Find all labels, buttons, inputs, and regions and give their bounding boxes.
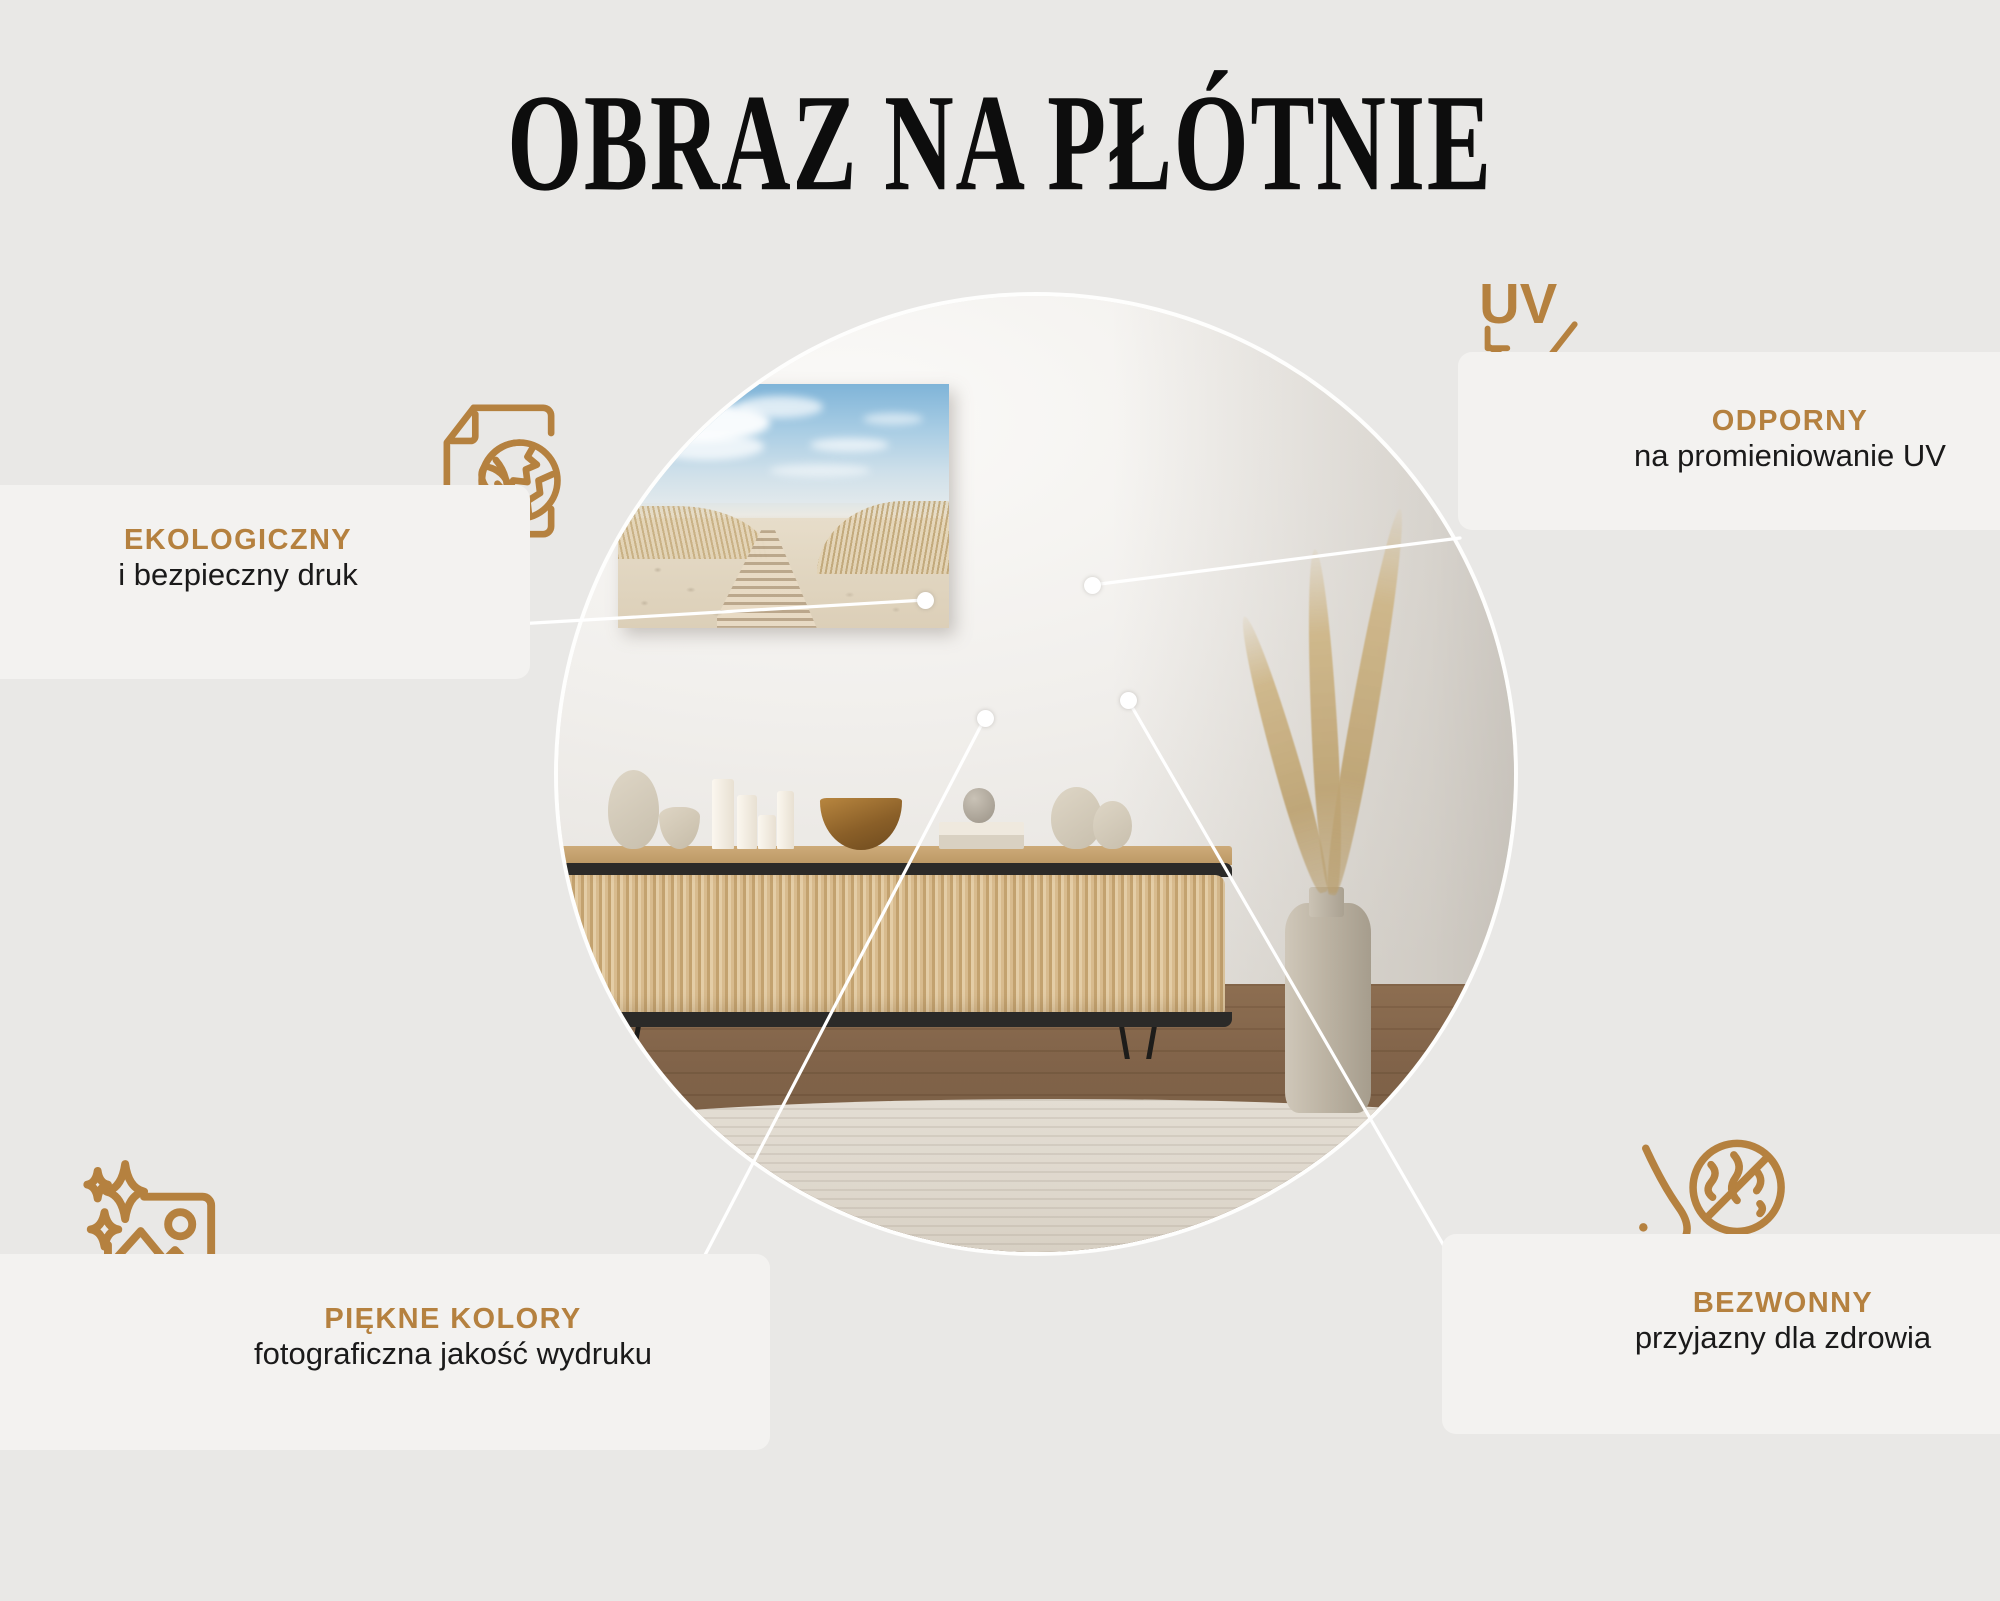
feature-subtitle: przyjazny dla zdrowia [1635,1320,1931,1357]
connector-dot [1084,577,1101,594]
sideboard-fluted-front [558,875,1225,1014]
pillar-candle [777,791,794,848]
feature-card-eco-text: EKOLOGICZNY i bezpieczny druk [58,523,418,594]
feature-subtitle: na promieniowanie UV [1634,438,1946,475]
decorative-stone [963,788,995,822]
uv-icon-label: UV [1479,278,1558,335]
feature-card-colors[interactable]: PIĘKNE KOLORY fotograficzna jakość wydru… [0,1254,770,1450]
feature-title: PIĘKNE KOLORY [324,1302,581,1336]
living-room-scene [558,296,1514,1252]
feature-card-eco[interactable]: EKOLOGICZNY i bezpieczny druk [0,485,530,679]
feature-card-uv-text: ODPORNY na promieniowanie UV [1580,404,2000,475]
connector-dot [917,592,934,609]
feature-subtitle: i bezpieczny druk [118,557,358,594]
sideboard-leg [630,1027,641,1059]
pillar-candle [737,795,757,849]
feature-card-odorless[interactable]: BEZWONNY przyjazny dla zdrowia [1442,1234,2000,1434]
stacked-books [939,822,1023,849]
pillar-candle [758,815,776,848]
feature-title: ODPORNY [1712,404,1868,438]
sideboard-top [558,846,1232,865]
sideboard [558,846,1232,1056]
canvas-artwork [618,384,949,628]
feature-title: EKOLOGICZNY [124,523,352,557]
ceramic-vase-pair [1093,801,1131,849]
feature-card-uv[interactable]: ODPORNY na promieniowanie UV [1458,352,2000,530]
artwork-sand-footprints [618,545,949,628]
sideboard-base [558,1012,1232,1027]
sideboard-leg [603,1027,614,1059]
ceramic-vase-large [608,770,660,848]
pillar-candle [712,779,734,849]
scene-circle [558,296,1514,1252]
sideboard-leg [1119,1027,1130,1059]
connector-dot [977,710,994,727]
sideboard-leg [1147,1027,1158,1059]
feature-title: BEZWONNY [1693,1286,1873,1320]
feature-card-odorless-text: BEZWONNY przyjazny dla zdrowia [1548,1286,2000,1357]
infographic-root: OBRAZ NA PŁÓTNIE [0,0,2000,1601]
feature-card-colors-text: PIĘKNE KOLORY fotograficzna jakość wydru… [168,1302,738,1373]
rug-texture [558,1099,1514,1252]
page-title: OBRAZ NA PŁÓTNIE [140,64,1860,224]
floor-vase [1285,903,1371,1113]
floor-vase-neck [1309,887,1343,918]
feature-subtitle: fotograficzna jakość wydruku [254,1336,652,1373]
connector-dot [1120,692,1137,709]
